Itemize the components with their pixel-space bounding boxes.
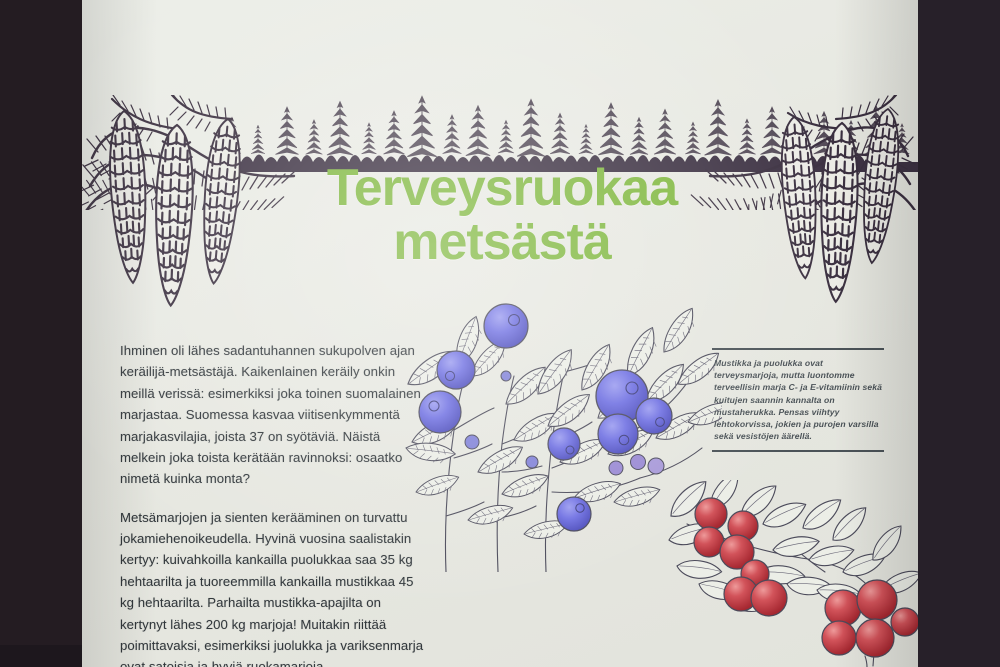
caption-box: Mustikka ja puolukka ovat terveysmarjoja…: [712, 348, 884, 452]
spruce-cones-right: [770, 95, 918, 315]
page-title: Terveysruokaa metsästä: [262, 164, 742, 268]
title-line-2: metsästä: [262, 218, 742, 268]
berry-cluster-red-right: [822, 580, 918, 657]
photo-border-left: [0, 0, 82, 667]
body-paragraph-2: Metsämarjojen ja sienten kerääminen on t…: [120, 507, 426, 667]
photo-frame: Terveysruokaa metsästä: [0, 0, 1000, 667]
photo-border-right: [918, 0, 1000, 667]
body-paragraph-1: Ihminen oli lähes sadantuhannen sukupolv…: [120, 340, 426, 490]
caption-rule-bottom: [712, 450, 884, 452]
poster-sheet: Terveysruokaa metsästä: [82, 0, 918, 667]
body-text-column: Ihminen oli lähes sadantuhannen sukupolv…: [120, 340, 426, 667]
caption-text: Mustikka ja puolukka ovat terveysmarjoja…: [712, 350, 884, 446]
title-line-1: Terveysruokaa: [262, 164, 742, 214]
lingonberry-sprig-illustration: [667, 480, 918, 667]
